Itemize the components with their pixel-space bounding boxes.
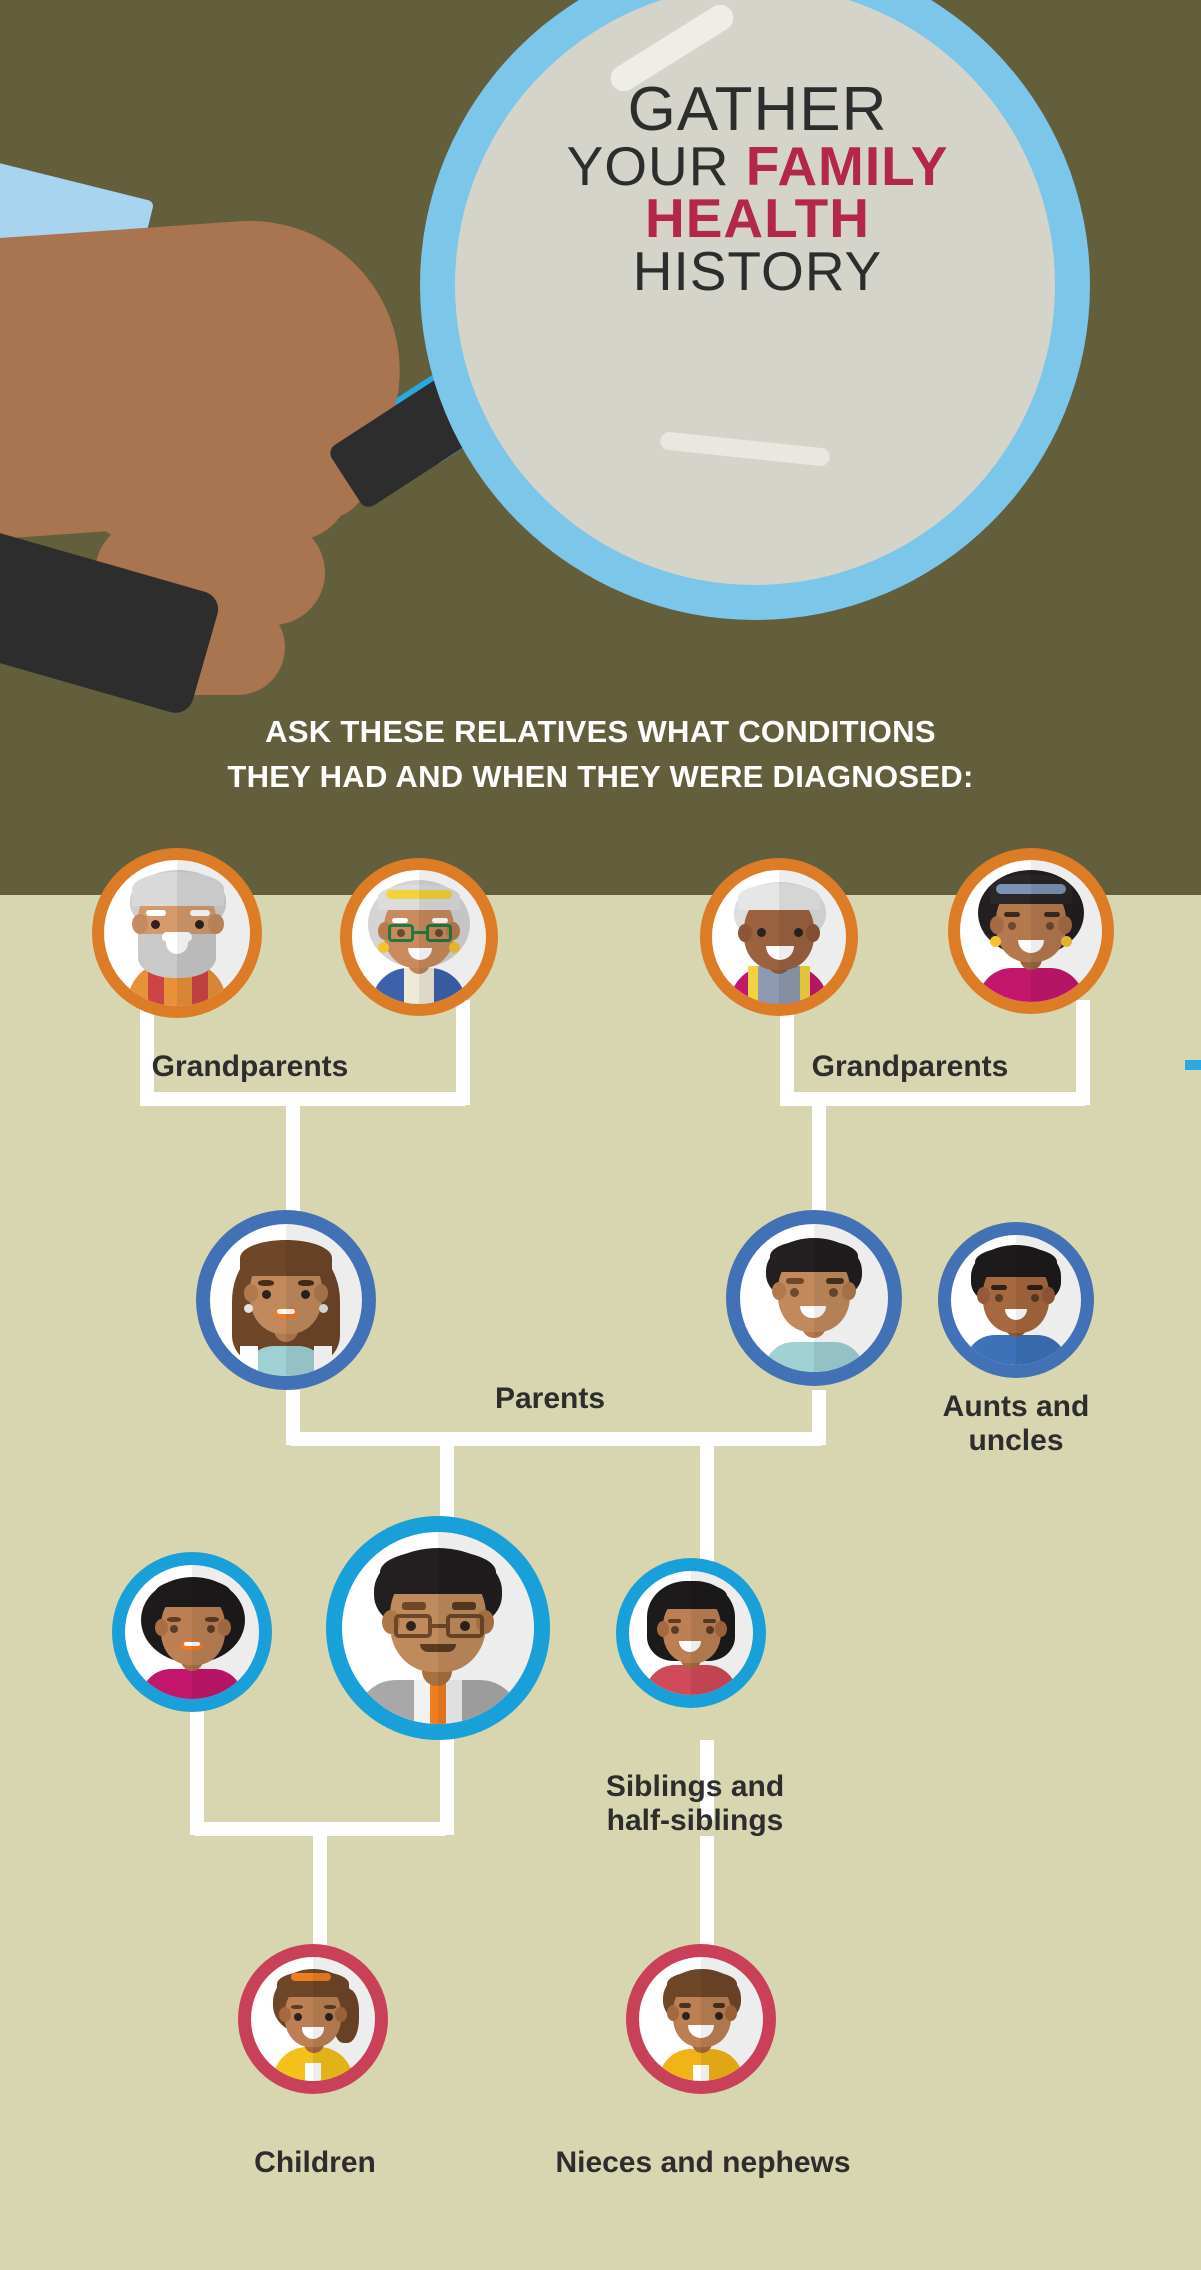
label-aunts-uncles-line1: Aunts and <box>896 1390 1136 1424</box>
label-aunts-uncles-line2: uncles <box>896 1424 1136 1458</box>
avatar-grandmother-paternal[interactable] <box>948 848 1114 1014</box>
label-aunts-uncles: Aunts and uncles <box>896 1390 1136 1457</box>
label-parents: Parents <box>440 1382 660 1416</box>
connector <box>812 1390 826 1445</box>
label-siblings-line1: Siblings and <box>570 1770 820 1804</box>
avatar-nephew[interactable] <box>626 1944 776 2094</box>
connector <box>700 1836 714 1952</box>
connector <box>286 1432 826 1446</box>
label-nieces-nephews: Nieces and nephews <box>528 2146 878 2180</box>
family-tree: Grandparents Grandparents <box>0 0 1201 2270</box>
label-siblings-line2: half-siblings <box>570 1804 820 1838</box>
avatar-self[interactable] <box>326 1516 550 1740</box>
avatar-half-sibling[interactable] <box>616 1558 766 1708</box>
avatar-uncle[interactable] <box>938 1222 1094 1378</box>
avatar-grandmother-maternal[interactable] <box>340 858 498 1016</box>
label-grandparents-left: Grandparents <box>100 1050 400 1084</box>
connector <box>140 1092 154 1106</box>
connector <box>700 1446 714 1574</box>
avatar-father[interactable] <box>726 1210 902 1386</box>
avatar-grandfather-paternal[interactable] <box>700 858 858 1016</box>
connector <box>190 1700 204 1835</box>
connector <box>140 1092 470 1106</box>
label-children: Children <box>190 2146 440 2180</box>
connector <box>780 1092 1090 1106</box>
avatar-mother[interactable] <box>196 1210 376 1390</box>
avatar-daughter[interactable] <box>238 1944 388 2094</box>
label-siblings: Siblings and half-siblings <box>570 1770 820 1837</box>
infographic-poster: GATHER YOUR FAMILY HEALTH HISTORY ASK TH… <box>0 0 1201 2270</box>
connector <box>313 1822 327 1952</box>
avatar-sister[interactable] <box>112 1552 272 1712</box>
connector <box>1076 1000 1090 1105</box>
label-grandparents-right: Grandparents <box>760 1050 1060 1084</box>
avatar-grandfather-maternal[interactable] <box>92 848 262 1018</box>
